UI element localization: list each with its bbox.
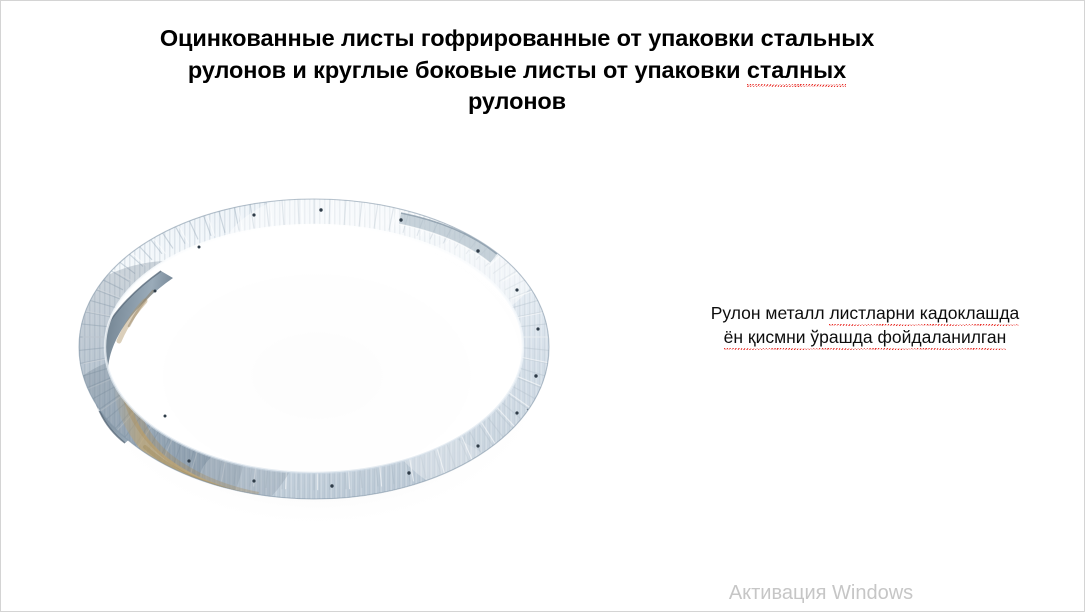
slide-title[interactable]: Оцинкованные листы гофрированные от упак… xyxy=(117,23,917,118)
caption-misspelled-phrase-1: листларни кадоклашда xyxy=(829,301,1019,325)
title-line-2-prefix: рулонов и круглые боковые листы от упако… xyxy=(188,57,747,83)
caption-line-2: ён қисмни ўрашда фойдаланилган xyxy=(691,325,1039,349)
presentation-slide: Оцинкованные листы гофрированные от упак… xyxy=(0,0,1085,612)
caption-misspelled-phrase-2: ён қисмни ўрашда фойдаланилган xyxy=(724,325,1007,349)
title-line-1: Оцинкованные листы гофрированные от упак… xyxy=(160,25,874,51)
corrugated-steel-ring-image xyxy=(49,151,579,551)
title-line-3: рулонов xyxy=(468,88,566,114)
watermark-title: Активация Windows xyxy=(601,581,1041,605)
page-title: Оцинкованные листы гофрированные от упак… xyxy=(117,23,917,118)
ring-photo-frame[interactable] xyxy=(49,151,579,551)
caption-line-1-prefix: Рулон металл xyxy=(711,303,830,323)
image-caption[interactable]: Рулон металл листларни кадоклашда ён қис… xyxy=(691,301,1039,349)
title-misspelled-word: сталных xyxy=(747,55,846,87)
windows-activation-watermark: Активация Windows xyxy=(601,581,1041,605)
caption-line-1: Рулон металл листларни кадоклашда xyxy=(691,301,1039,325)
